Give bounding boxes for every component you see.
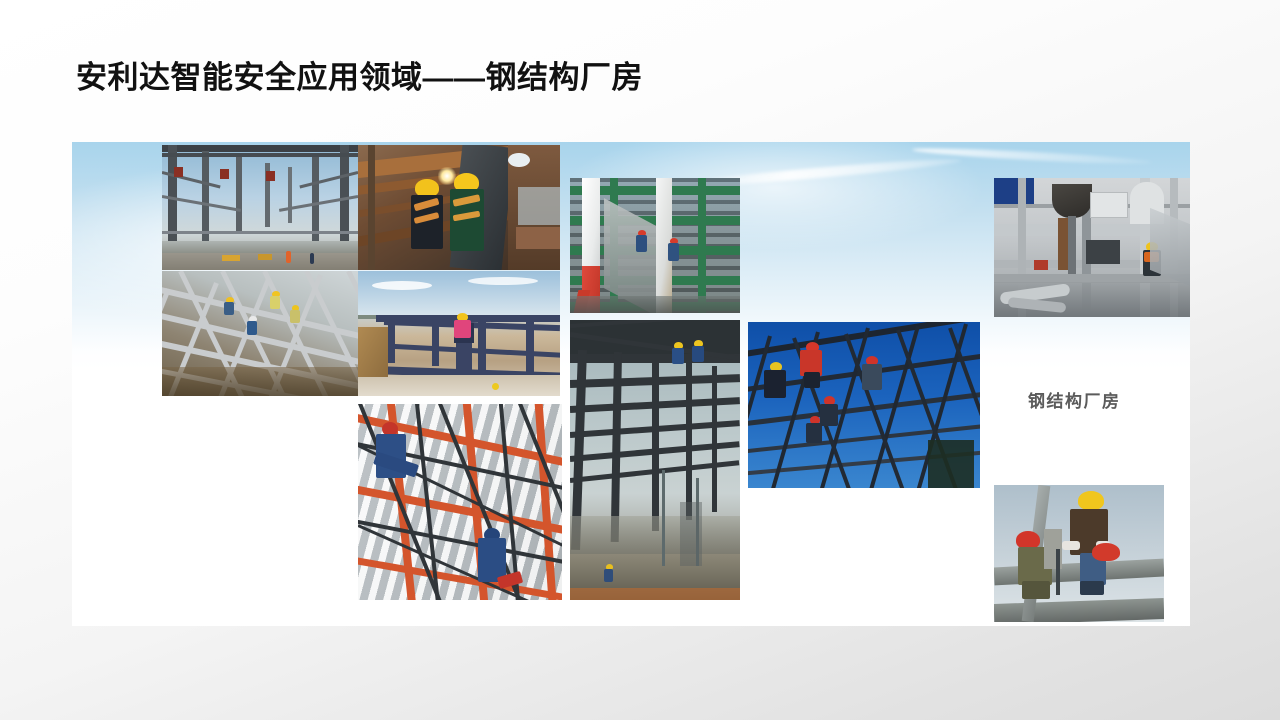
photo-workers-on-space-truss-blue-sky (748, 322, 980, 488)
photo-canopy-steel-frame (570, 320, 740, 600)
photo-steel-frame-warehouse-interior (162, 145, 358, 270)
caption-steel-structure: 钢结构厂房 (1028, 387, 1121, 412)
photo-blue-steel-beams-site (358, 271, 560, 396)
photo-plant-interior-gray-steel (994, 178, 1190, 317)
image-collage-card (72, 142, 1190, 626)
photo-orange-scaffold-roof (358, 404, 562, 600)
photo-green-plant-structure (570, 178, 740, 313)
photo-space-frame-roof-truss (162, 271, 358, 396)
page-title: 安利达智能安全应用领域——钢结构厂房 (76, 52, 643, 97)
photo-welders-yellow-helmets (358, 145, 560, 270)
photo-two-workers-on-beam (994, 485, 1164, 622)
slide-canvas: 安利达智能安全应用领域——钢结构厂房 (0, 0, 1280, 720)
